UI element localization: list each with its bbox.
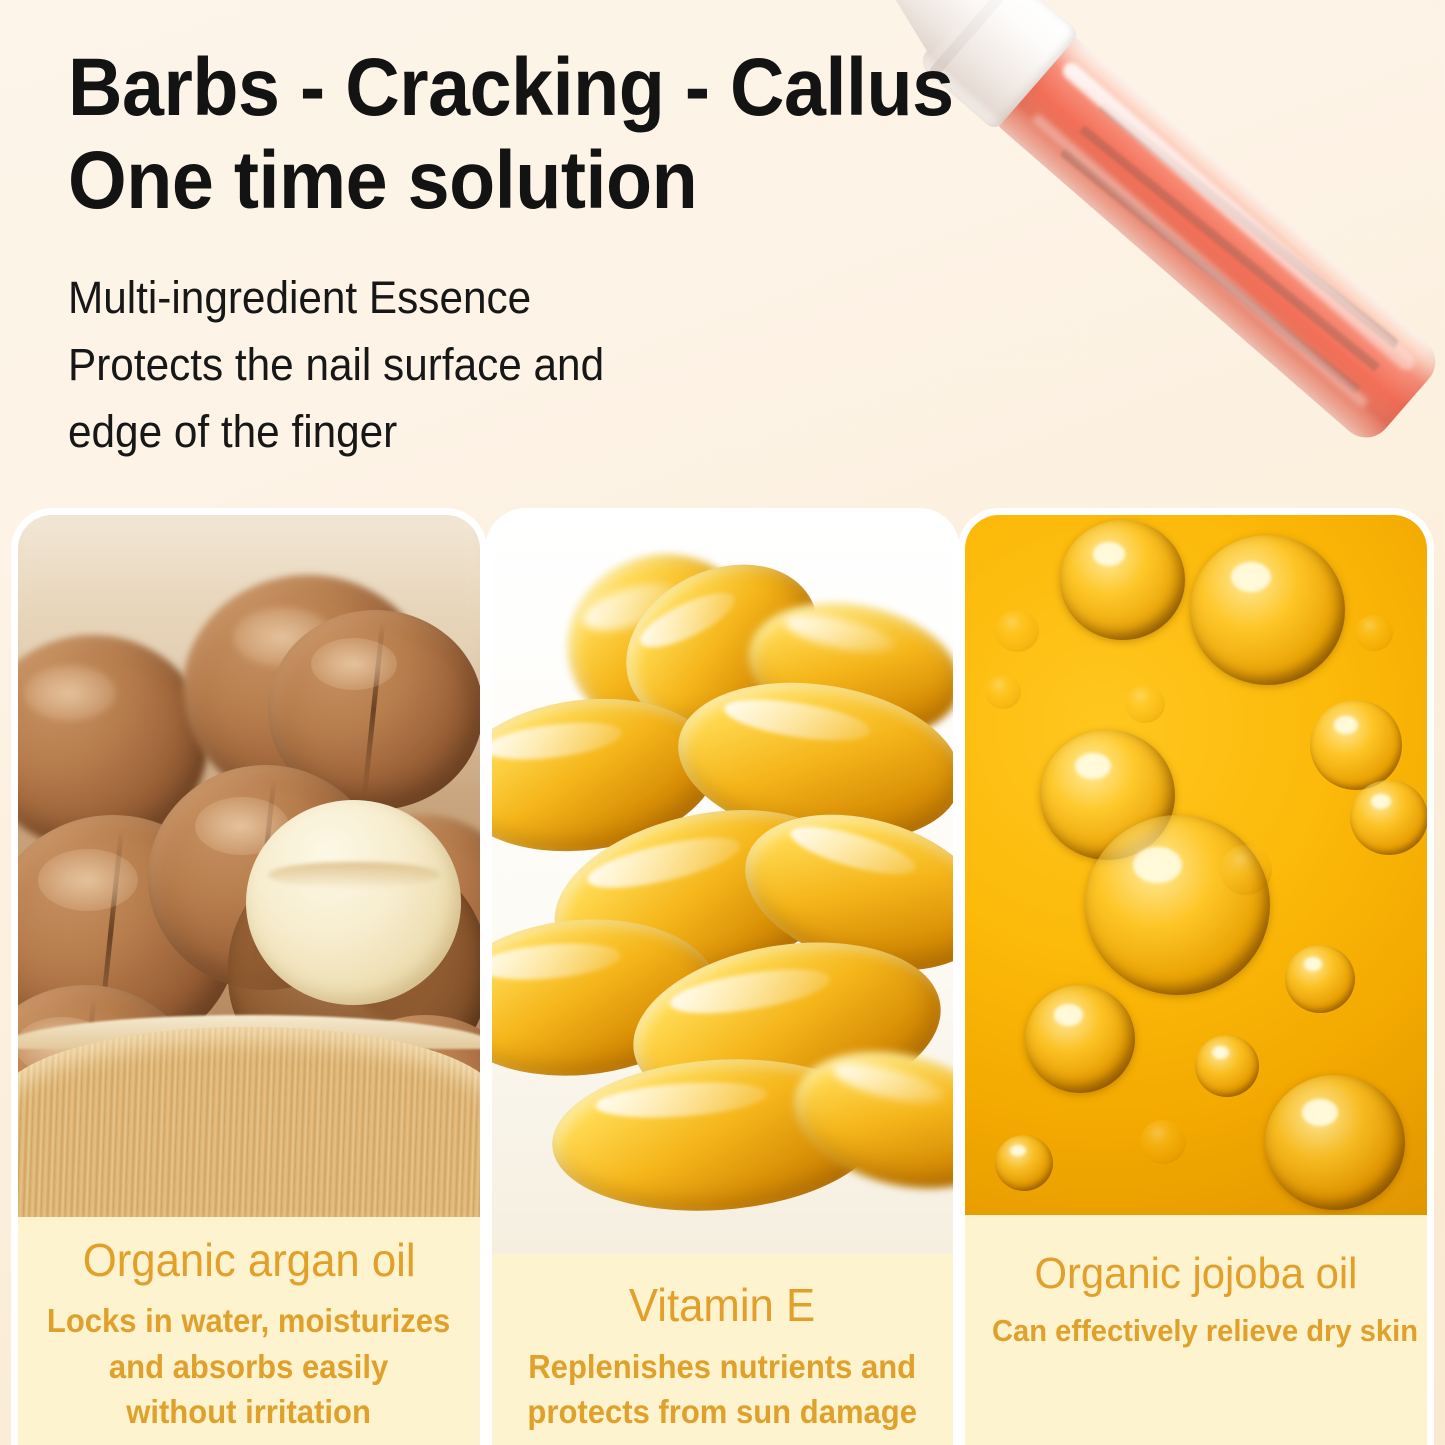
card-caption-vitamin-e: Vitamin E Replenishes nutrients and prot… [492, 1254, 954, 1445]
header-text-block: Barbs - Cracking - Callus One time solut… [68, 42, 1118, 465]
card-desc-line: Replenishes nutrients and [528, 1344, 918, 1390]
card-desc-line: Can effectively relieve dry skin [992, 1310, 1400, 1353]
card-caption-organic-jojoba-oil: Organic jojoba oil Can effectively relie… [965, 1215, 1427, 1445]
headline-line-2: One time solution [68, 135, 1034, 228]
ingredient-card-organic-argan-oil[interactable]: Organic argan oil Locks in water, moistu… [18, 515, 480, 1445]
wooden-bowl [18, 1027, 480, 1217]
card-desc-vitamin-e: Replenishes nutrients and protects from … [528, 1344, 918, 1435]
card-photo-oil-bubbles [965, 515, 1427, 1215]
card-desc-line: and absorbs easily [47, 1344, 450, 1390]
card-desc-line: without irritation [47, 1389, 450, 1435]
card-desc-line: Locks in water, moisturizes [47, 1298, 450, 1344]
card-photo-softgel-capsules [492, 515, 954, 1254]
card-desc-organic-argan-oil: Locks in water, moisturizes and absorbs … [47, 1298, 450, 1435]
subhead-line-2: Protects the nail surface and [68, 332, 1055, 399]
ingredient-card-organic-jojoba-oil[interactable]: Organic jojoba oil Can effectively relie… [965, 515, 1427, 1445]
card-desc-line: protects from sun damage [528, 1389, 918, 1435]
card-caption-organic-argan-oil: Organic argan oil Locks in water, moistu… [18, 1217, 480, 1445]
ingredient-card-vitamin-e[interactable]: Vitamin E Replenishes nutrients and prot… [492, 515, 954, 1445]
card-title-organic-jojoba-oil: Organic jojoba oil [1035, 1249, 1358, 1298]
headline-line-1: Barbs - Cracking - Callus [68, 42, 1034, 135]
subhead-line-3: edge of the finger [68, 399, 1055, 466]
ingredient-card-row: Organic argan oil Locks in water, moistu… [0, 515, 1445, 1445]
pen-brush-tip [826, 0, 939, 5]
card-title-vitamin-e: Vitamin E [629, 1280, 815, 1332]
card-desc-organic-jojoba-oil: Can effectively relieve dry skin [992, 1310, 1400, 1353]
subhead-line-1: Multi-ingredient Essence [68, 265, 1055, 332]
card-photo-macadamia-nuts [18, 515, 480, 1217]
card-title-organic-argan-oil: Organic argan oil [82, 1235, 415, 1287]
